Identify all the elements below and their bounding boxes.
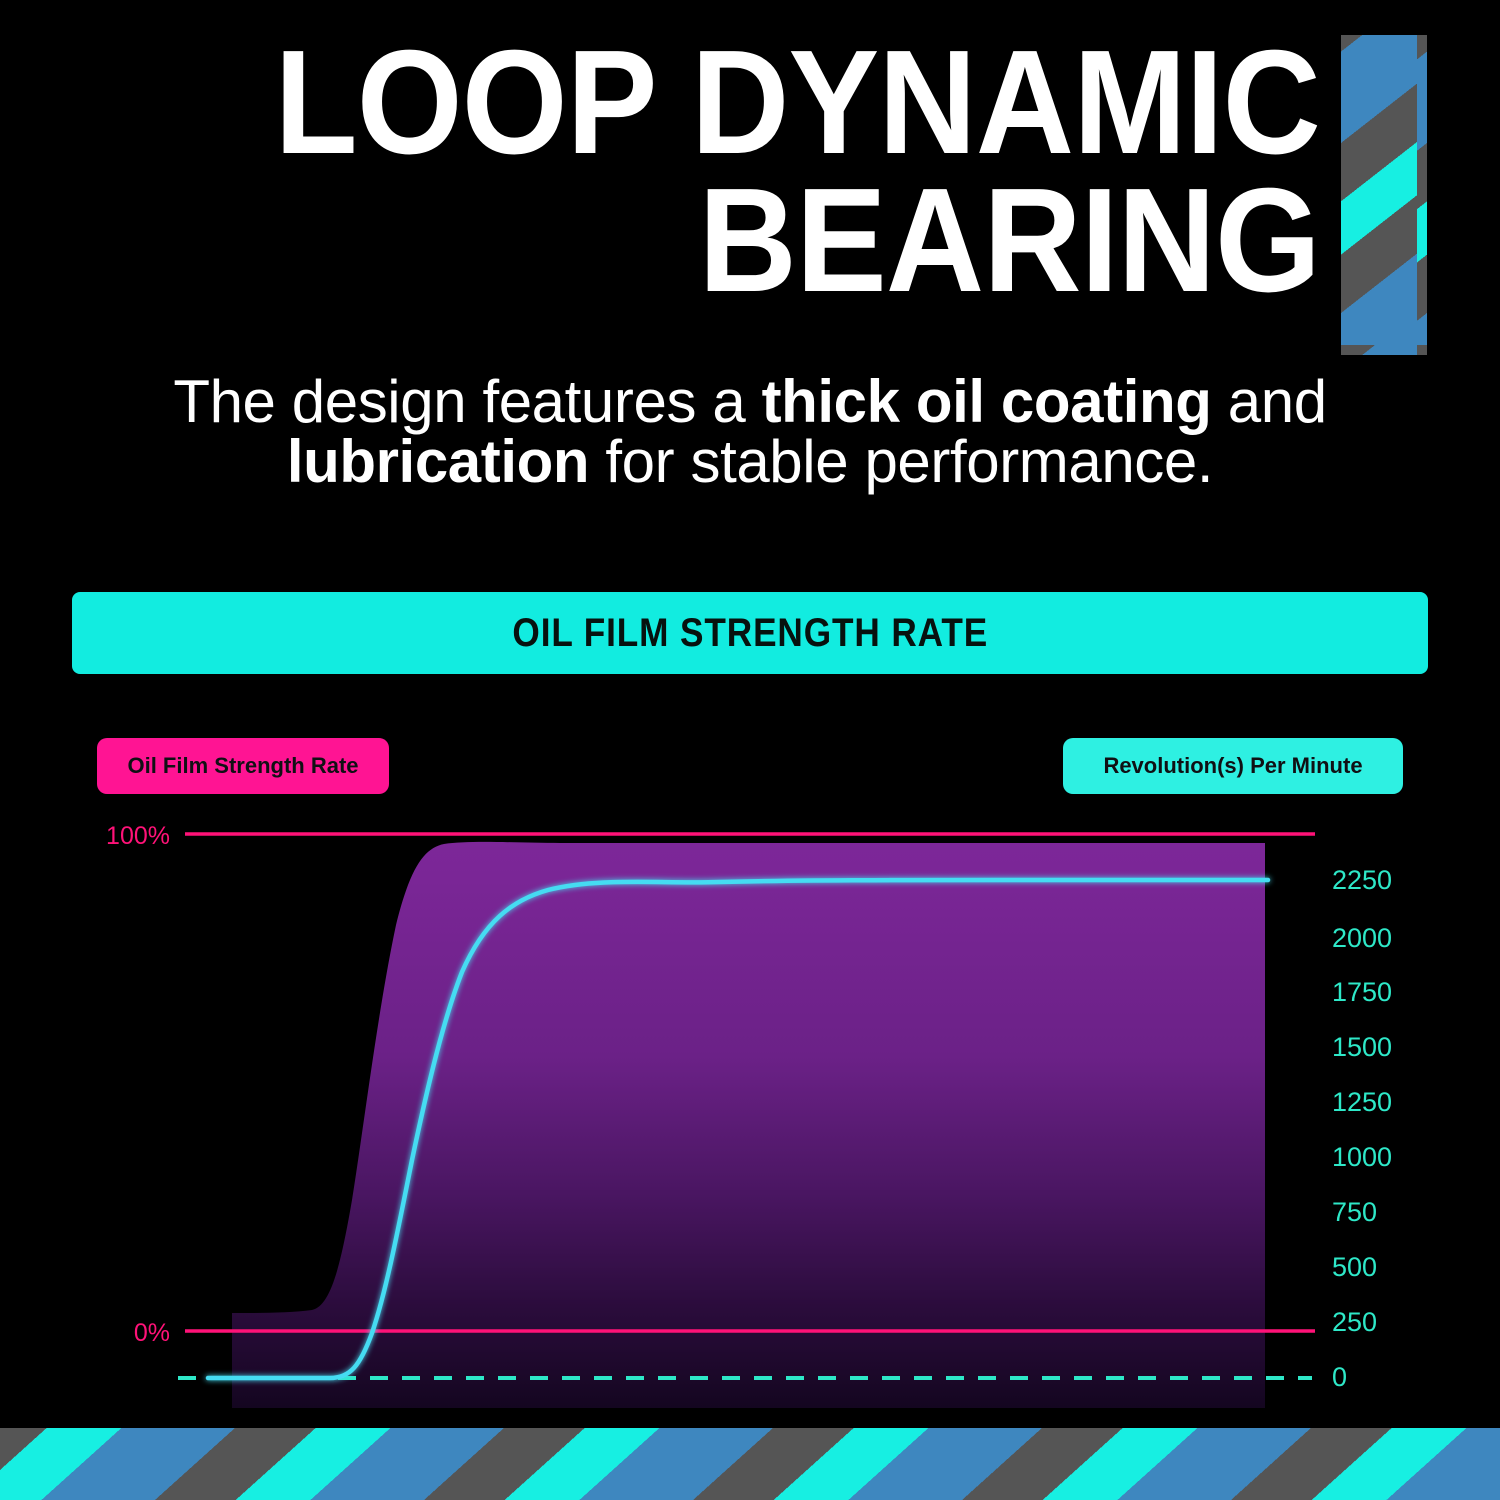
chart-area: 100% 0% 2250 2000 1750 1500 1250 1000 75… [0,800,1500,1420]
right-axis-tick-0: 0 [1332,1362,1347,1392]
right-axis-tick-1750: 1750 [1332,977,1392,1007]
infographic-page: LOOP DYNAMIC BEARING The design features… [0,0,1500,1500]
section-banner-label: OIL FILM STRENGTH RATE [512,611,988,656]
title-line-2: BEARING [253,172,1320,310]
subtitle: The design features a thick oil coating … [100,372,1400,492]
corner-stripe-decoration [1341,35,1427,355]
oil-film-strength-chart: 100% 0% 2250 2000 1750 1500 1250 1000 75… [0,800,1500,1420]
legend-left-label: Oil Film Strength Rate [127,753,358,779]
right-axis-tick-1000: 1000 [1332,1142,1392,1172]
subtitle-strong-2: lubrication [287,428,589,495]
subtitle-text-2: and [1211,368,1326,435]
left-axis-tick-0: 0% [134,1319,170,1347]
footer-stripe-decoration [0,1428,1500,1500]
subtitle-strong-1: thick oil coating [762,368,1212,435]
legend-right-label: Revolution(s) Per Minute [1103,753,1362,779]
subtitle-text-3: for stable performance. [589,428,1213,495]
right-axis-tick-750: 750 [1332,1197,1377,1227]
right-axis-tick-2000: 2000 [1332,923,1392,953]
right-axis-tick-1500: 1500 [1332,1032,1392,1062]
series-area-oil-film-strength-rate [232,842,1265,1408]
section-banner: OIL FILM STRENGTH RATE [72,592,1428,674]
page-title: LOOP DYNAMIC BEARING [160,34,1320,309]
right-axis-tick-500: 500 [1332,1252,1377,1282]
legend-item-oil-film-strength-rate[interactable]: Oil Film Strength Rate [97,738,389,794]
right-axis-tick-250: 250 [1332,1307,1377,1337]
right-axis-tick-2250: 2250 [1332,865,1392,895]
right-axis-tick-1250: 1250 [1332,1087,1392,1117]
title-line-1: LOOP DYNAMIC [253,34,1320,172]
subtitle-text-1: The design features a [173,368,761,435]
legend-item-revolutions-per-minute[interactable]: Revolution(s) Per Minute [1063,738,1403,794]
left-axis-tick-100: 100% [106,822,170,850]
header: LOOP DYNAMIC BEARING [0,0,1500,360]
